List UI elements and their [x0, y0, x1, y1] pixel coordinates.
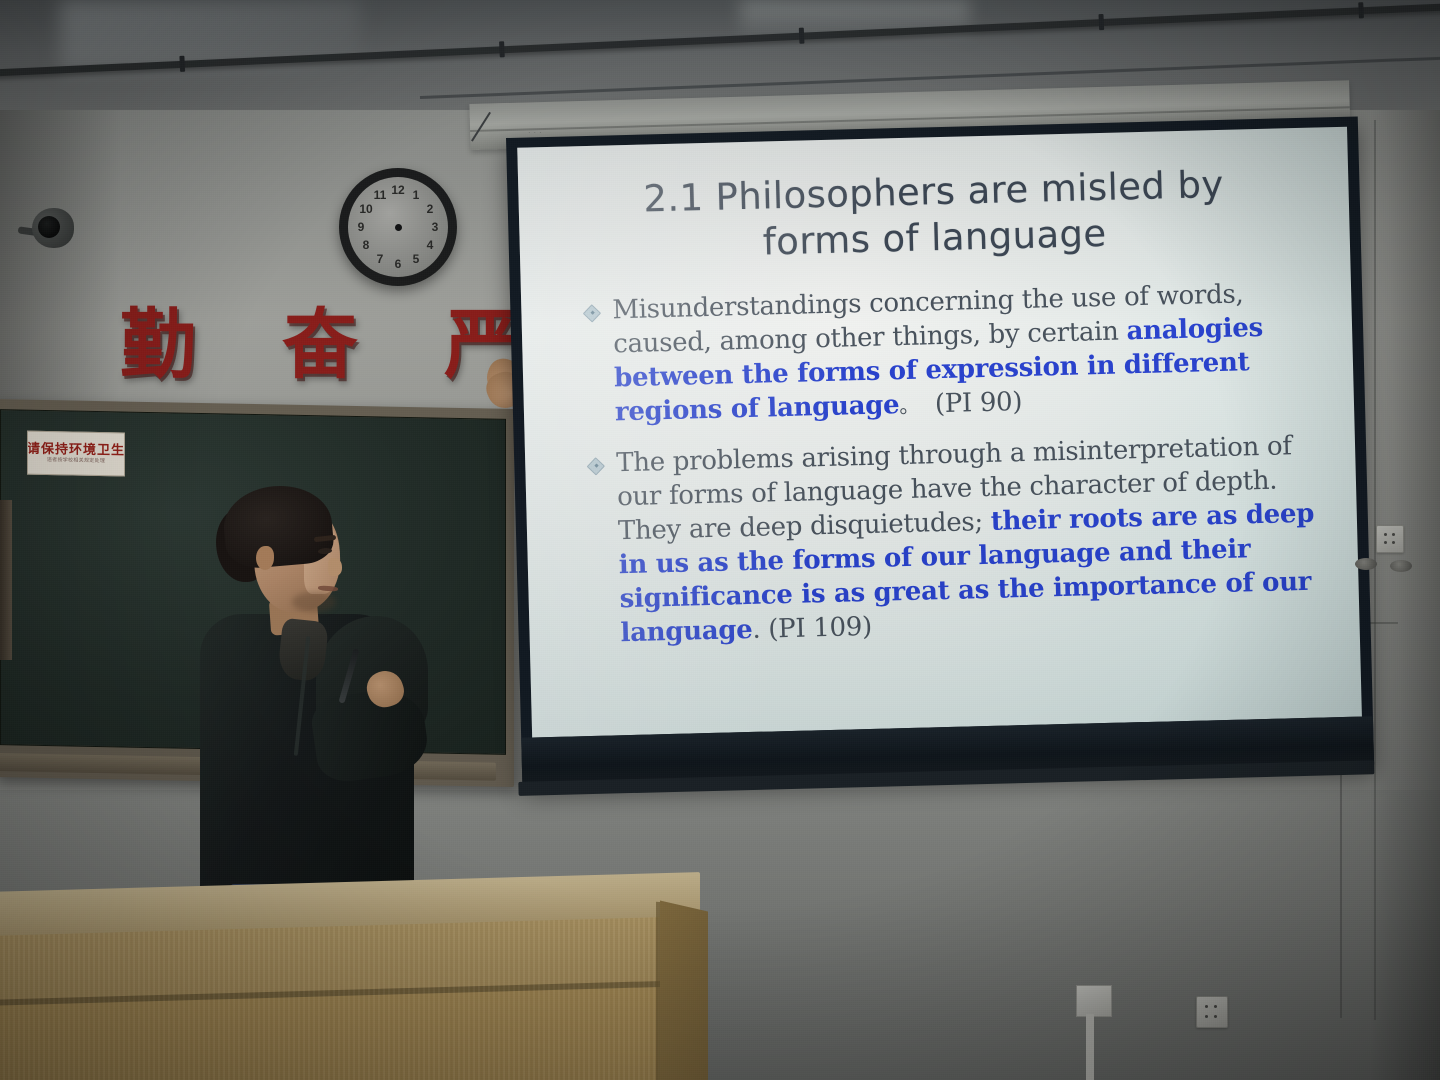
speaker-bracket [1390, 560, 1412, 572]
lectern [0, 880, 728, 1080]
presentation-slide: 2.1 Philosophers are misled by forms of … [517, 127, 1362, 738]
clock-center-pin [395, 224, 402, 231]
bullet-1-text: Misunderstandings concerning the use of … [612, 276, 1314, 431]
clock-numeral: 4 [422, 238, 438, 252]
wall-junction-box [1076, 985, 1112, 1017]
clock-numeral: 12 [390, 183, 406, 197]
wall-cable [1374, 120, 1376, 1020]
bullet-1-reference: (PI 90) [935, 387, 1023, 419]
clock-numeral: 10 [358, 202, 374, 216]
list-item: The problems arising through a misinterp… [565, 429, 1320, 652]
clock-numeral: 7 [372, 252, 388, 266]
bullet-2-plain-2: . [752, 615, 761, 645]
clock-numeral: 3 [427, 220, 443, 234]
presenter-ear [256, 546, 274, 570]
wall-shadow-left [0, 110, 120, 440]
diamond-bullet-icon [587, 457, 605, 475]
power-outlet[interactable] [1376, 525, 1404, 553]
bullet-2-text: The problems arising through a misinterp… [616, 429, 1320, 651]
clock-numeral: 8 [358, 238, 374, 252]
motto-char-1: 勤 [120, 302, 198, 388]
notice-sign-main-text: 请保持环境卫生 [27, 442, 125, 459]
slide-title: 2.1 Philosophers are misled by forms of … [558, 160, 1310, 271]
power-outlet[interactable] [1196, 996, 1228, 1028]
projector-screen[interactable]: 2.1 Philosophers are misled by forms of … [506, 116, 1374, 785]
presenter-chin-shadow [292, 592, 336, 612]
security-camera-icon [18, 200, 76, 256]
bullet-1-cjk-period: 。 [899, 394, 919, 418]
housing-label: · · · [528, 130, 542, 136]
wall-shadow-right [1370, 110, 1440, 1080]
wall-cable-drop [1086, 1014, 1094, 1080]
presenter-hair [221, 481, 336, 570]
slide-bullet-list: Misunderstandings concerning the use of … [561, 276, 1320, 652]
notice-sign-sub-text: 违者按学校相关规定处理 [47, 457, 105, 465]
clock-numeral: 6 [390, 257, 406, 271]
motto-char-2: 奋 [282, 302, 360, 388]
clock-numeral: 9 [353, 220, 369, 234]
projection-surface: 2.1 Philosophers are misled by forms of … [517, 127, 1362, 738]
lectern-side-panel [660, 900, 708, 1080]
clock-face: 12 1 2 3 4 5 6 7 8 9 10 11 [348, 177, 448, 277]
blackboard-left-post [0, 500, 12, 660]
clock-numeral: 1 [408, 188, 424, 202]
speaker-bracket [1355, 558, 1377, 570]
blackboard-notice-sign: 请保持环境卫生 违者按学校相关规定处理 [27, 431, 125, 477]
bullet-2-reference: (PI 109) [768, 612, 872, 645]
clock-numeral: 2 [422, 202, 438, 216]
screen-housing-bracket [471, 112, 491, 142]
diamond-bullet-icon [583, 304, 601, 322]
lecture-hall-photo: 12 1 2 3 4 5 6 7 8 9 10 11 勤 奋 严 谨 请保持环境… [0, 0, 1440, 1080]
clock-numeral: 11 [372, 188, 388, 202]
clock-numeral: 5 [408, 252, 424, 266]
list-item: Misunderstandings concerning the use of … [561, 276, 1314, 432]
presenter-nose [328, 558, 342, 576]
presenter [196, 486, 442, 906]
wall-clock: 12 1 2 3 4 5 6 7 8 9 10 11 [339, 168, 457, 286]
